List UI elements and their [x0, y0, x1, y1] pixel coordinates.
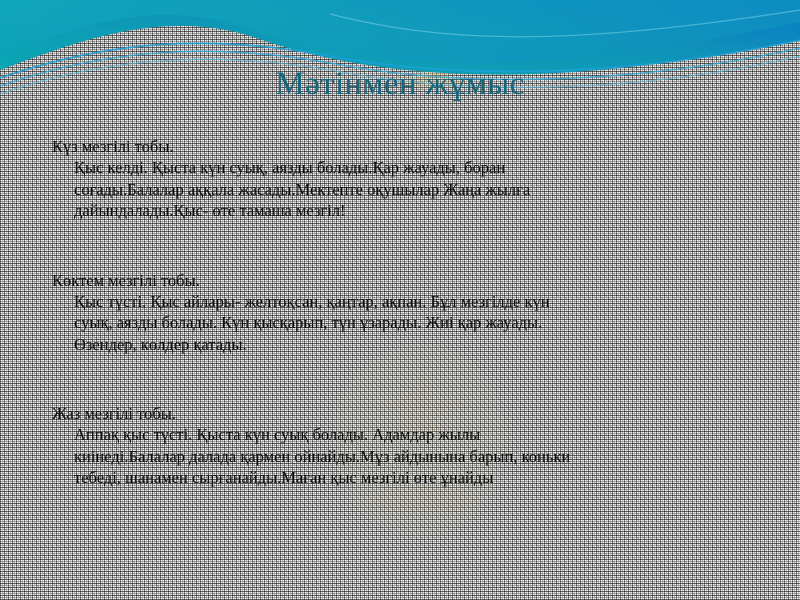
paragraph-spacer — [52, 232, 752, 270]
text-line: киінеді.Балалар далада қармен ойнайды.Мұ… — [74, 446, 752, 468]
group-heading: Көктем мезгілі тобы. — [52, 270, 752, 291]
group-body: Қыс түсті. Қыс айлары- желтоқсан, қаңтар… — [52, 291, 752, 356]
text-group-1: Күз мезгілі тобы. Қыс келді. Қыста күн с… — [52, 136, 752, 222]
text-line: дайындалады.Қыс- өте тамаша мезгіл! — [74, 200, 752, 222]
text-line: Өзендер, көлдер қатады. — [74, 334, 752, 356]
text-group-2: Көктем мезгілі тобы. Қыс түсті. Қыс айла… — [52, 270, 752, 356]
text-line: суық, аязды болады. Күн қысқарып, түн ұз… — [74, 312, 752, 334]
text-line: тебеді, шанамен сырғанайды.Маған қыс мез… — [74, 467, 752, 489]
paragraph-spacer — [52, 365, 752, 403]
text-line: Аппақ қыс түсті. Қыста күн суық болады. … — [74, 424, 752, 446]
group-heading: Жаз мезгілі тобы. — [52, 403, 752, 424]
text-line: Қыс түсті. Қыс айлары- желтоқсан, қаңтар… — [74, 291, 752, 313]
text-group-3: Жаз мезгілі тобы. Аппақ қыс түсті. Қыста… — [52, 403, 752, 489]
group-body: Аппақ қыс түсті. Қыста күн суық болады. … — [52, 424, 752, 489]
group-heading: Күз мезгілі тобы. — [52, 136, 752, 157]
presentation-slide: Мәтінмен жұмыс Күз мезгілі тобы. Қыс кел… — [0, 0, 800, 600]
text-line: Қыс келді. Қыста күн суық, аязды болады.… — [74, 157, 752, 179]
group-body: Қыс келді. Қыста күн суық, аязды болады.… — [52, 157, 752, 222]
slide-title: Мәтінмен жұмыс — [0, 64, 800, 104]
text-line: соғады.Балалар аққала жасады.Мектепте оқ… — [74, 179, 752, 201]
slide-body: Күз мезгілі тобы. Қыс келді. Қыста күн с… — [52, 136, 752, 499]
